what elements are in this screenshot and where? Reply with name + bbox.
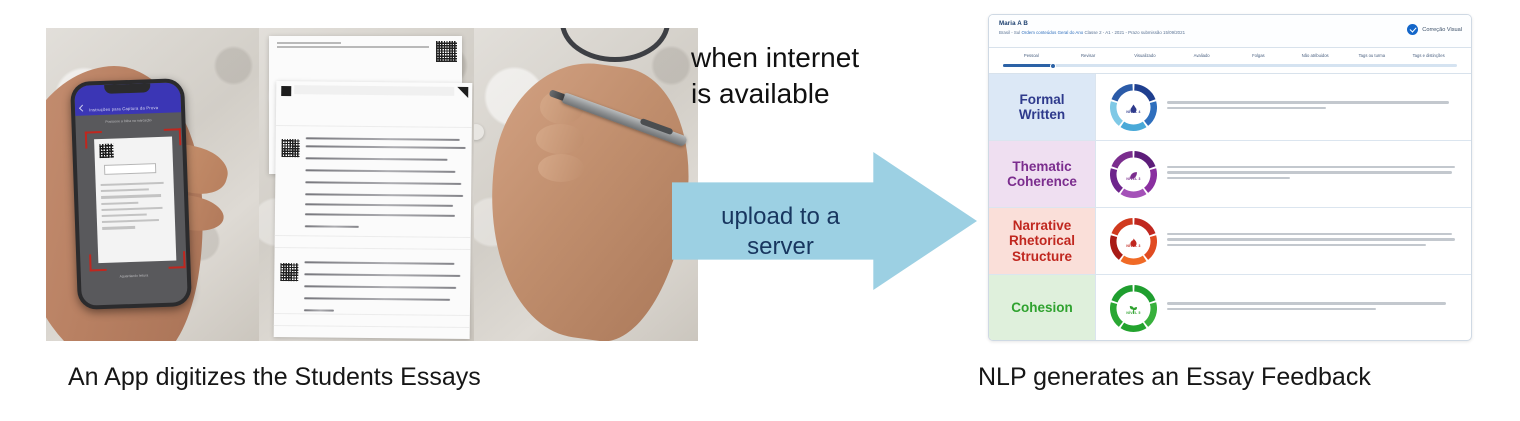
criterion-label: Narrative Rhetorical Structure: [989, 208, 1096, 274]
tab-1[interactable]: Revisar: [1060, 53, 1117, 58]
droplet-icon: [1129, 100, 1138, 109]
sheet-heading: [269, 36, 462, 48]
level-label: NÍVEL 3: [1126, 177, 1140, 181]
progress-slider[interactable]: [1003, 64, 1457, 67]
app-title: Instruções para Captura da Prova: [89, 105, 158, 112]
capture-hint-top: Posicione a folha na marcação: [75, 117, 181, 125]
comment-text-line: [1167, 107, 1326, 109]
score-donut-chart: NÍVEL 5: [1110, 285, 1157, 332]
knuckle: [536, 124, 584, 154]
student-meta-link[interactable]: Ordem conteúdos Geral do Ano: [1021, 30, 1083, 35]
score-donut-chart: NÍVEL 4: [1110, 84, 1157, 131]
capture-hint-bottom: Aguardando leitura: [81, 272, 187, 280]
internet-condition-text: when internet is available: [691, 40, 921, 113]
caption-right: NLP generates an Essay Feedback: [978, 363, 1371, 392]
photo-strip: Instruções para Captura da Prova Posicio…: [46, 28, 698, 341]
knuckle: [538, 154, 584, 182]
fiducial-square-icon: [281, 86, 291, 96]
comment-text-line: [1167, 302, 1446, 304]
comment-text-line: [1167, 166, 1455, 168]
criterion-body: NÍVEL 3: [1096, 141, 1471, 207]
tab-3[interactable]: Avaliado: [1173, 53, 1230, 58]
student-meta: Brasil - Sul Ordem conteúdos Geral do An…: [999, 30, 1461, 35]
check-circle-icon: [1407, 24, 1418, 35]
student-meta-rest: Classe 2 - A1 - 2021 - Prazo submissão 1…: [1084, 30, 1185, 35]
criterion-body: NÍVEL 4: [1096, 74, 1471, 140]
criterion-body: NÍVEL 5: [1096, 275, 1471, 341]
answer-sheet-front: [274, 81, 473, 339]
comment-text-line: [1167, 101, 1449, 103]
phone-screen: Instruções para Captura da Prova Posicio…: [74, 82, 188, 306]
smartphone: Instruções para Captura da Prova Posicio…: [70, 78, 192, 310]
criterion-label: Thematic Coherence: [989, 141, 1096, 207]
photo-hand-writing: [474, 28, 698, 341]
comment-text-line: [1167, 238, 1455, 240]
criterion-row: Thematic CoherenceNÍVEL 3: [989, 141, 1471, 208]
caption-left: An App digitizes the Students Essays: [68, 363, 481, 392]
progress-fill: [1003, 64, 1053, 67]
condition-line-1: when internet: [691, 40, 921, 76]
student-name: Maria A B: [999, 20, 1461, 27]
tab-list: PessoalRevisarVisualizadoAvaliadoFolgasN…: [1003, 48, 1457, 58]
tab-6[interactable]: Tags ou turma: [1344, 53, 1401, 58]
criterion-label: Cohesion: [989, 275, 1096, 341]
score-donut-chart: NÍVEL 3: [1110, 151, 1157, 198]
score-donut-chart: NÍVEL 3: [1110, 218, 1157, 265]
arrow-label: upload to a server: [688, 202, 873, 263]
condition-line-2: is available: [691, 76, 921, 112]
document-preview: [94, 137, 176, 264]
qr-code-icon: [280, 263, 298, 281]
donut-center: NÍVEL 3: [1120, 160, 1148, 188]
tab-5[interactable]: Não atribuidos: [1287, 53, 1344, 58]
comment-text-line: [1167, 233, 1452, 235]
qr-code-icon: [282, 139, 300, 157]
leaf-icon: [1129, 167, 1138, 176]
student-meta-prefix: Brasil - Sul: [999, 30, 1020, 35]
donut-center: NÍVEL 4: [1120, 93, 1148, 121]
tab-7[interactable]: Tags e distinções: [1400, 53, 1457, 58]
criterion-comment: [1167, 233, 1461, 250]
progress-handle[interactable]: [1050, 63, 1056, 69]
qr-code-icon: [99, 144, 113, 158]
donut-center: NÍVEL 3: [1120, 227, 1148, 255]
back-arrow-icon[interactable]: [79, 105, 86, 112]
criterion-comment: [1167, 166, 1461, 183]
sprout-icon: [1129, 301, 1138, 310]
status-badge-label: Correção Visual: [1422, 27, 1462, 33]
status-badge[interactable]: Correção Visual: [1407, 24, 1462, 35]
level-label: NÍVEL 4: [1126, 110, 1140, 114]
arrow-label-line-1: upload to a: [688, 202, 873, 233]
panel-tabs: PessoalRevisarVisualizadoAvaliadoFolgasN…: [989, 48, 1471, 74]
criterion-comment: [1167, 302, 1461, 313]
document-title-box: [104, 163, 156, 175]
tab-0[interactable]: Pessoal: [1003, 53, 1060, 58]
criterion-body: NÍVEL 3: [1096, 208, 1471, 274]
level-label: NÍVEL 3: [1126, 244, 1140, 248]
donut-center: NÍVEL 5: [1120, 294, 1148, 322]
phone-notch: [104, 83, 150, 94]
photo-answer-sheets: [259, 28, 474, 341]
comment-text-line: [1167, 308, 1376, 310]
fiducial-triangle-icon: [457, 87, 468, 98]
comment-text-line: [1167, 177, 1290, 179]
panel-header: Maria A B Brasil - Sul Ordem conteúdos G…: [989, 15, 1471, 48]
level-label: NÍVEL 5: [1126, 311, 1140, 315]
tab-2[interactable]: Visualizado: [1117, 53, 1174, 58]
criterion-row: CohesionNÍVEL 5: [989, 275, 1471, 341]
capture-viewfinder: [85, 128, 186, 271]
criterion-label: Formal Written: [989, 74, 1096, 140]
essay-feedback-panel: Maria A B Brasil - Sul Ordem conteúdos G…: [988, 14, 1472, 341]
criterion-comment: [1167, 101, 1461, 112]
arrow-label-line-2: server: [688, 232, 873, 263]
flame-icon: [1129, 234, 1138, 243]
comment-text-line: [1167, 244, 1426, 246]
criterion-row: Formal WrittenNÍVEL 4: [989, 74, 1471, 141]
criteria-rows: Formal WrittenNÍVEL 4Thematic CoherenceN…: [989, 74, 1471, 341]
criterion-row: Narrative Rhetorical StructureNÍVEL 3: [989, 208, 1471, 275]
figure-canvas: Instruções para Captura da Prova Posicio…: [0, 0, 1520, 421]
qr-code-icon: [436, 41, 457, 62]
photo-phone-scanning: Instruções para Captura da Prova Posicio…: [46, 28, 259, 341]
tab-4[interactable]: Folgas: [1230, 53, 1287, 58]
flow-arrow: upload to a server: [672, 152, 977, 290]
comment-text-line: [1167, 171, 1452, 173]
